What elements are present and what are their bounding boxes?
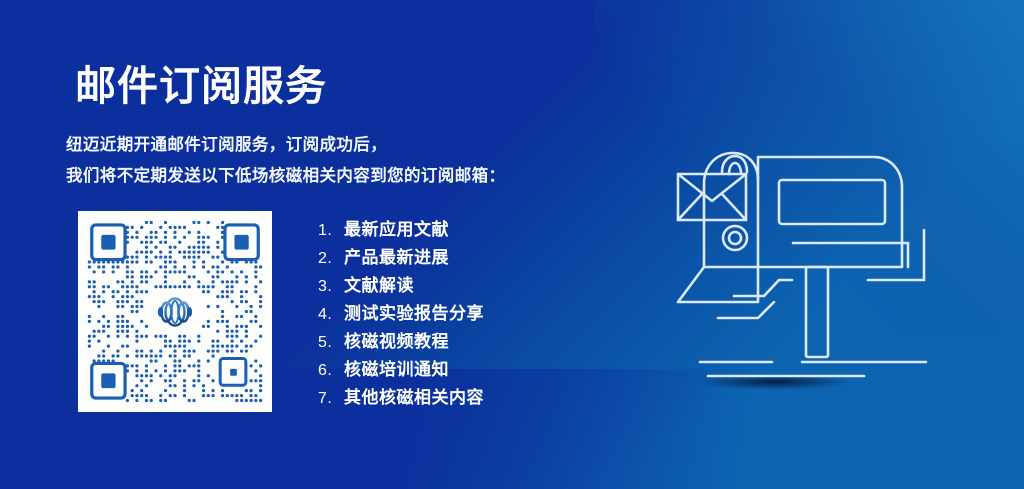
envelope-fold-right bbox=[722, 194, 746, 220]
list-item-number: 5. bbox=[318, 334, 344, 352]
mailbox-illustration bbox=[596, 112, 936, 412]
list-item-label: 核磁视频教程 bbox=[344, 327, 449, 352]
list-item-number: 6. bbox=[318, 362, 344, 380]
list-item-label: 文献解读 bbox=[344, 271, 414, 296]
list-item: 1.最新应用文献 bbox=[318, 215, 484, 243]
list-item-number: 2. bbox=[318, 250, 344, 268]
envelope-fold-left bbox=[678, 194, 702, 220]
list-item-label: 测试实验报告分享 bbox=[344, 299, 484, 324]
envelope-flap bbox=[678, 174, 746, 201]
list-item-label: 产品最新进展 bbox=[344, 243, 449, 268]
list-item-label: 最新应用文献 bbox=[344, 215, 449, 240]
mailbox-flag-arm bbox=[734, 280, 792, 296]
mailbox-right-bracket bbox=[868, 230, 924, 280]
list-item: 4.测试实验报告分享 bbox=[318, 299, 484, 327]
mailbox-knob-outer bbox=[723, 226, 747, 250]
qr-code-panel[interactable] bbox=[78, 211, 272, 412]
list-item: 6.核磁培训通知 bbox=[318, 355, 484, 383]
qr-code-inner bbox=[87, 220, 263, 403]
list-item-number: 4. bbox=[318, 306, 344, 324]
list-item-label: 核磁培训通知 bbox=[344, 355, 449, 380]
list-item-number: 1. bbox=[318, 222, 344, 240]
subtitle-line-2: 我们将不定期发送以下低场核磁相关内容到您的订阅邮箱： bbox=[66, 162, 505, 186]
mailbox-door-arch-inner bbox=[729, 163, 741, 174]
content-list: 1.最新应用文献2.产品最新进展3.文献解读4.测试实验报告分享5.核磁视频教程… bbox=[318, 215, 484, 411]
list-item: 5.核磁视频教程 bbox=[318, 327, 484, 355]
mailbox-flag-arm-lower bbox=[718, 302, 774, 318]
list-item-label: 其他核磁相关内容 bbox=[344, 383, 484, 408]
list-item-number: 3. bbox=[318, 278, 344, 296]
list-item-number: 7. bbox=[318, 390, 344, 408]
mailbox-slot bbox=[779, 180, 885, 224]
mailbox-post bbox=[806, 267, 828, 357]
subtitle-line-1: 纽迈近期开通邮件订阅服务，订阅成功后， bbox=[66, 131, 387, 155]
mailbox-knob-inner bbox=[729, 232, 741, 244]
list-item: 7.其他核磁相关内容 bbox=[318, 383, 484, 411]
subscription-banner: 邮件订阅服务 纽迈近期开通邮件订阅服务，订阅成功后， 我们将不定期发送以下低场核… bbox=[0, 0, 1024, 489]
brand-logo-icon bbox=[155, 295, 195, 329]
list-item: 2.产品最新进展 bbox=[318, 243, 484, 271]
page-title: 邮件订阅服务 bbox=[75, 63, 327, 111]
list-item: 3.文献解读 bbox=[318, 271, 484, 299]
